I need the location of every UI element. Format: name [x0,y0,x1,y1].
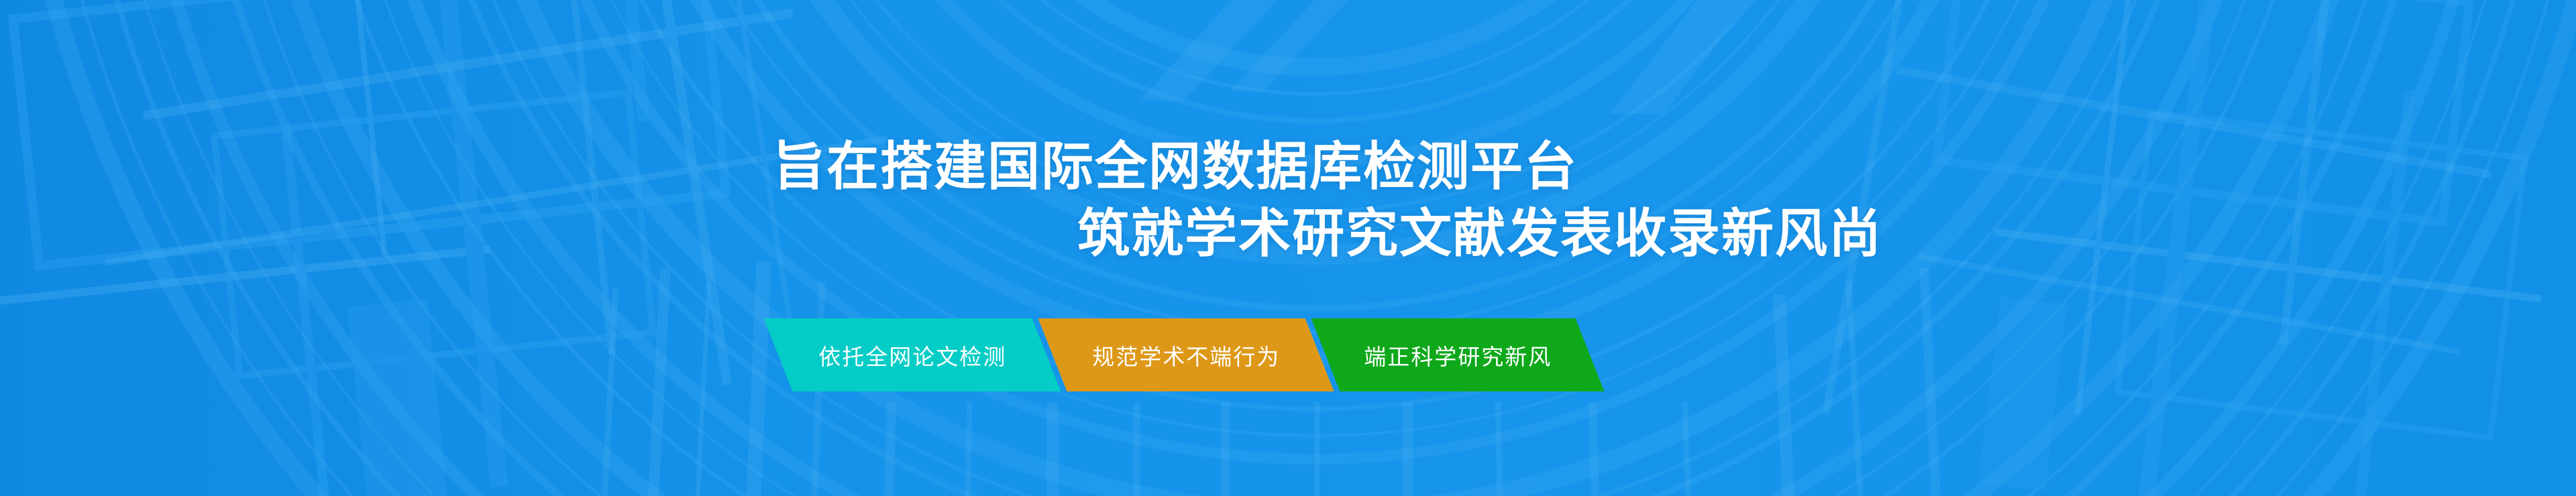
feature-badge-detection-label: 依托全网论文检测 [789,339,1036,371]
promo-banner: 旨在搭建国际全网数据库检测平台 筑就学术研究文献发表收录新风尚 依托全网论文检测… [0,0,2576,496]
feature-badge-integrity[interactable]: 端正科学研究新风 [1311,318,1605,391]
feature-badge-detection[interactable]: 依托全网论文检测 [764,318,1061,391]
headline-line-1: 旨在搭建国际全网数据库检测平台 [773,134,1578,198]
headline-line-2: 筑就学术研究文献发表收录新风尚 [1077,201,1882,265]
feature-badge-integrity-label: 端正科学研究新风 [1334,339,1581,371]
feature-badge-row: 依托全网论文检测 规范学术不端行为 端正科学研究新风 [778,318,1590,391]
feature-badge-misconduct-label: 规范学术不端行为 [1063,339,1309,371]
feature-badge-misconduct[interactable]: 规范学术不端行为 [1038,318,1334,391]
banner-content: 旨在搭建国际全网数据库检测平台 筑就学术研究文献发表收录新风尚 依托全网论文检测… [0,0,2576,496]
